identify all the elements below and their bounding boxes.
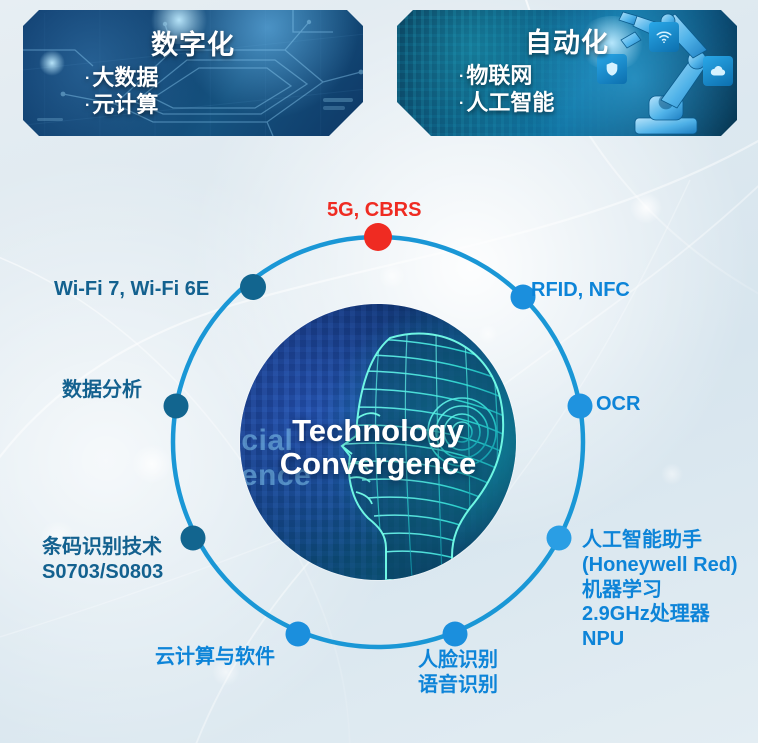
node-dot-face-voice[interactable]: [443, 622, 468, 647]
node-dot-ocr[interactable]: [568, 394, 593, 419]
node-label-line: 2.9GHz处理器: [582, 602, 738, 627]
node-label-line: 机器学习: [582, 578, 738, 603]
node-label-face-voice[interactable]: 人脸识别 语音识别: [418, 648, 498, 698]
node-label-line: S0703/S0803: [42, 560, 163, 585]
node-label-ocr[interactable]: OCR: [596, 392, 640, 416]
node-label-rfid-nfc[interactable]: RFID, NFC: [531, 278, 630, 302]
node-label-cloud-software[interactable]: 云计算与软件: [155, 645, 275, 669]
technology-convergence-diagram: ficial gence: [0, 0, 758, 743]
node-label-line: 语音识别: [418, 673, 498, 698]
node-label-barcode[interactable]: 条码识别技术 S0703/S0803: [42, 535, 163, 585]
hub-circle: ficial gence: [240, 304, 516, 580]
node-dot-wifi[interactable]: [240, 274, 266, 300]
node-dot-data-analytics[interactable]: [164, 394, 189, 419]
node-label-wifi[interactable]: Wi-Fi 7, Wi-Fi 6E: [54, 277, 209, 301]
node-label-ai-assistant[interactable]: 人工智能助手 (Honeywell Red) 机器学习 2.9GHz处理器 NP…: [582, 528, 738, 652]
node-dot-ai-assistant[interactable]: [547, 526, 572, 551]
infographic-canvas: 数字化 ·大数据 ·元计算: [0, 0, 758, 743]
node-label-line: (Honeywell Red): [582, 553, 738, 578]
node-label-line: 人工智能助手: [582, 528, 738, 553]
hub-title-line-1: Technology: [240, 414, 516, 447]
node-label-line: 条码识别技术: [42, 535, 163, 560]
node-dot-barcode[interactable]: [181, 526, 206, 551]
node-dot-5g-cbrs[interactable]: [364, 223, 392, 251]
node-dot-cloud-software[interactable]: [286, 622, 311, 647]
hub-title: Technology Convergence: [240, 414, 516, 481]
node-label-line: 人脸识别: [418, 648, 498, 673]
node-label-line: NPU: [582, 627, 738, 652]
node-label-5g-cbrs[interactable]: 5G, CBRS: [327, 198, 421, 222]
node-label-data-analytics[interactable]: 数据分析: [62, 378, 142, 402]
hub-title-line-2: Convergence: [240, 447, 516, 480]
